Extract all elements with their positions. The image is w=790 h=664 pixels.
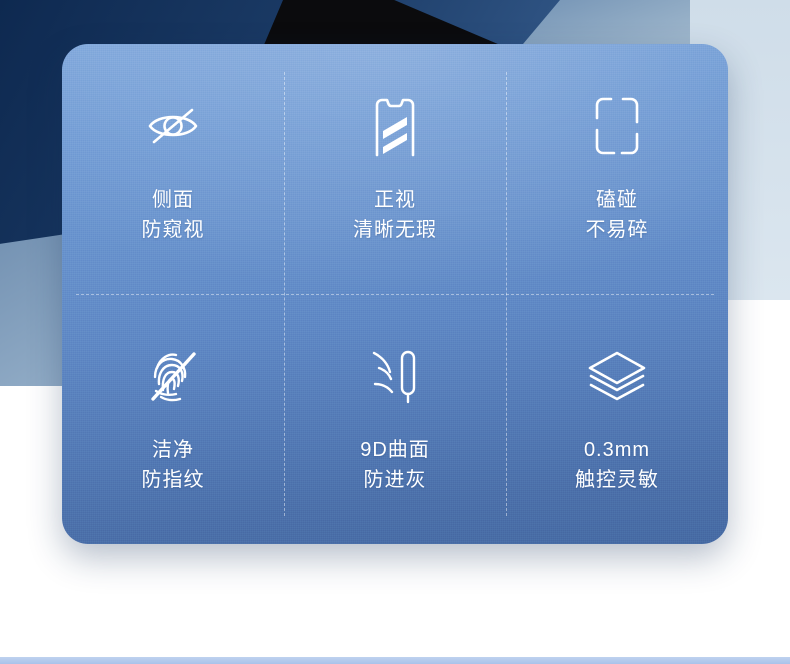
feature-cell-shatterproof: 磕碰 不易碎 (506, 44, 728, 294)
shatterproof-frame-icon (594, 93, 640, 159)
feature-caption: 9D曲面 防进灰 (360, 435, 430, 496)
caption-line-1: 0.3mm (575, 435, 659, 465)
feature-cell-antifingerprint: 洁净 防指纹 (62, 294, 284, 544)
caption-line-2: 防窥视 (142, 215, 205, 245)
caption-line-1: 侧面 (142, 185, 205, 215)
caption-line-2: 触控灵敏 (575, 465, 659, 495)
feature-caption: 磕碰 不易碎 (586, 185, 649, 246)
layers-stack-icon (585, 343, 649, 409)
feature-caption: 正视 清晰无瑕 (353, 185, 437, 246)
fingerprint-slash-icon (144, 343, 202, 409)
feature-grid: 侧面 防窥视 正视 清晰无瑕 (62, 44, 728, 544)
feature-caption: 洁净 防指纹 (142, 435, 205, 496)
phone-screen-shine-icon (371, 93, 419, 159)
caption-line-1: 洁净 (142, 435, 205, 465)
feature-card: 侧面 防窥视 正视 清晰无瑕 (62, 44, 728, 544)
feature-caption: 侧面 防窥视 (142, 185, 205, 246)
curved-edge-dust-icon (366, 343, 424, 409)
caption-line-2: 防指纹 (142, 465, 205, 495)
caption-line-1: 9D曲面 (360, 435, 430, 465)
caption-line-2: 防进灰 (360, 465, 430, 495)
feature-cell-curved-dustproof: 9D曲面 防进灰 (284, 294, 506, 544)
feature-cell-privacy: 侧面 防窥视 (62, 44, 284, 294)
caption-line-2: 不易碎 (586, 215, 649, 245)
feature-cell-thin-touch: 0.3mm 触控灵敏 (506, 294, 728, 544)
caption-line-2: 清晰无瑕 (353, 215, 437, 245)
background-bottom-strip (0, 657, 790, 664)
product-feature-banner: 侧面 防窥视 正视 清晰无瑕 (0, 0, 790, 664)
eye-slash-icon (142, 93, 204, 159)
feature-caption: 0.3mm 触控灵敏 (575, 435, 659, 496)
feature-cell-clarity: 正视 清晰无瑕 (284, 44, 506, 294)
caption-line-1: 磕碰 (586, 185, 649, 215)
caption-line-1: 正视 (353, 185, 437, 215)
